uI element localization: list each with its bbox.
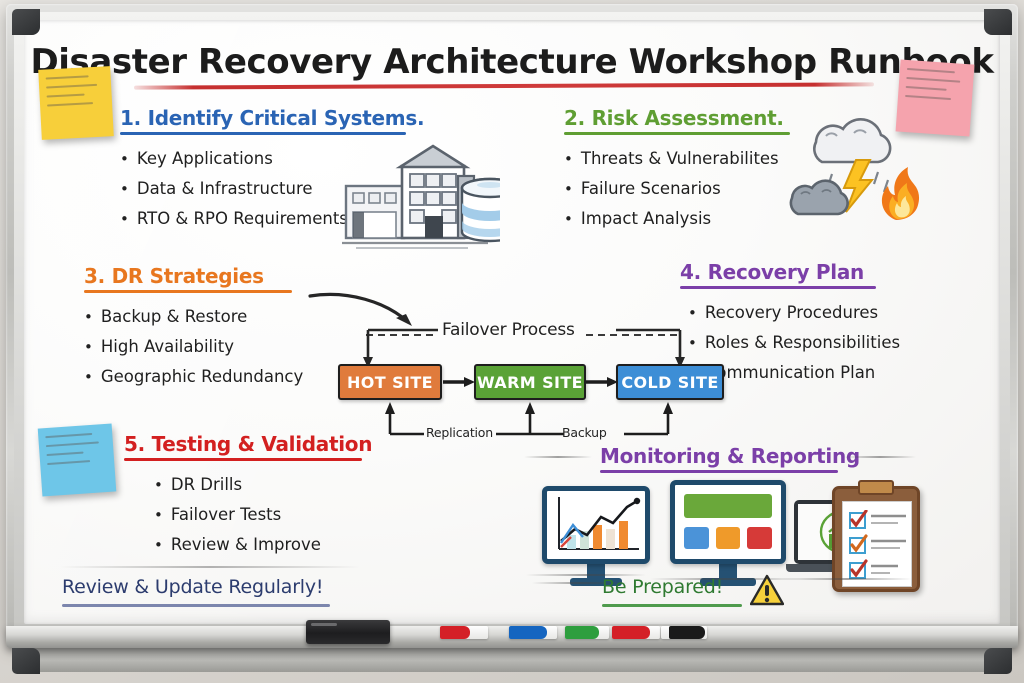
section-monitoring-reporting: Monitoring & Reporting [600,444,860,473]
site-box-cold[interactable]: COLD SITE [616,364,724,400]
sticky-note-pink[interactable] [896,60,975,137]
whiteboard-eraser[interactable] [306,620,390,644]
footer-right-note: Be Prepared! [602,576,723,598]
footer-left-underline [62,604,330,607]
marker-cap [565,626,599,639]
monitoring-dash-left [524,456,592,458]
monitoring-underline [600,470,838,473]
section-risk-assessment: 2. Risk Assessment. Threats & Vulnerabil… [564,106,790,234]
frame-corner-top-left [12,9,40,35]
tray-shelf [14,646,1010,672]
monitoring-heading: Monitoring & Reporting [600,444,860,468]
frame-corner-bottom-left [12,648,40,674]
marker-cap [612,626,650,639]
marker-green[interactable] [565,626,609,639]
title-underline [134,82,874,89]
page-title: Disaster Recovery Architecture Workshop … [24,42,1000,82]
footer-top-sketch [60,566,360,568]
list-item: Threats & Vulnerabilites [564,144,790,174]
site-box-warm[interactable]: WARM SITE [474,364,586,400]
list-item: High Availability [84,332,303,362]
footer-left-note: Review & Update Regularly! [62,576,323,598]
section-1-heading: 1. Identify Critical Systems. [120,106,424,130]
section-4-underline [680,286,876,289]
section-5-underline [124,458,362,461]
sticky-note-blue[interactable] [38,424,117,497]
marker-cap [440,626,470,639]
sticky-scribble [906,86,947,91]
diagram-return-arrows [324,400,724,442]
monitoring-dash-right [844,456,916,458]
sticky-scribble [46,75,89,79]
section-5-heading: 5. Testing & Validation [124,432,372,456]
diagram-label-replication: Replication [426,425,493,440]
section-testing-validation: 5. Testing & Validation DR Drills Failov… [124,432,372,560]
sticky-scribble [47,452,84,457]
office-building-database-icon [340,140,500,252]
marker-red-2[interactable] [612,626,660,639]
sticky-scribble [907,68,955,73]
sticky-scribble [46,441,99,447]
section-5-bullets: DR Drills Failover Tests Review & Improv… [154,470,372,560]
warning-triangle-icon [750,574,784,606]
sticky-note-yellow[interactable] [38,66,114,140]
marker-black[interactable] [661,626,707,639]
list-item: Backup & Restore [84,302,303,332]
sticky-scribble [905,95,951,100]
section-3-underline [84,290,292,293]
clipboard-checklist-icon [832,486,920,592]
marker-red-1[interactable] [440,626,488,639]
arrow-warm-to-cold-icon [585,374,619,390]
section-dr-strategies: 3. DR Strategies Backup & Restore High A… [84,264,303,392]
list-item: Geographic Redundancy [84,362,303,392]
dashboard-monitor-icon [670,480,786,586]
sticky-scribble [47,94,85,98]
list-item: DR Drills [154,470,372,500]
list-item: Failover Tests [154,500,372,530]
section-2-underline [564,132,790,135]
site-box-warm-label: WARM SITE [477,373,583,392]
sticky-scribble [906,77,960,83]
sticky-scribble [45,433,92,438]
section-1-underline [120,132,406,135]
sticky-scribble [46,84,97,89]
marker-cap [509,626,547,639]
site-box-hot-label: HOT SITE [347,373,433,392]
section-2-heading: 2. Risk Assessment. [564,106,790,130]
sticky-scribble [47,460,90,465]
whiteboard-surface[interactable]: Disaster Recovery Architecture Workshop … [24,20,1000,624]
footer-right-underline [602,604,742,607]
list-item: Failure Scenarios [564,174,790,204]
site-box-hot[interactable]: HOT SITE [338,364,442,400]
frame-corner-bottom-right [984,648,1012,674]
arrow-hot-to-warm-icon [442,374,476,390]
marker-blue[interactable] [509,626,557,639]
site-box-cold-label: COLD SITE [621,373,718,392]
failover-process-diagram: Failover Process HOT SITE WARM SITE COLD… [324,310,724,450]
marker-cap [669,626,705,639]
chart-monitor-icon [542,486,650,586]
section-4-heading: 4. Recovery Plan [680,260,900,284]
section-3-bullets: Backup & Restore High Availability Geogr… [84,302,303,392]
diagram-label-backup: Backup [562,425,607,440]
list-item: Review & Improve [154,530,372,560]
sticky-scribble [47,102,93,106]
desk-sketch-line-4 [782,578,912,580]
list-item: Impact Analysis [564,204,790,234]
frame-corner-top-right [984,9,1012,35]
section-2-bullets: Threats & Vulnerabilites Failure Scenari… [564,144,790,234]
section-3-heading: 3. DR Strategies [84,264,303,288]
